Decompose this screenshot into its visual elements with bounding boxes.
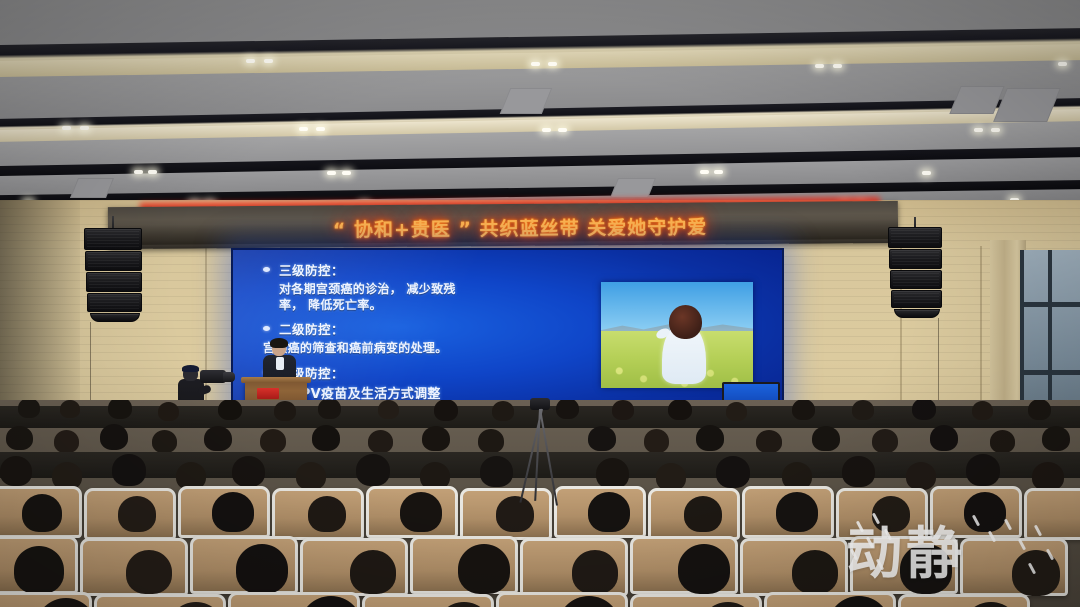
audience-head (792, 400, 815, 420)
auditorium-seat (1024, 488, 1080, 540)
ceiling-spotlight (815, 64, 824, 68)
audience-head (434, 400, 458, 421)
slide-bullet-line: 对各期宫颈癌的诊治， 减少致残 (279, 281, 593, 297)
ceiling-spotlight (342, 171, 351, 175)
speaker-module (87, 293, 142, 312)
ceiling-spotlight (327, 171, 336, 175)
audience-head (14, 546, 64, 594)
audience-head (478, 429, 504, 453)
ceiling-spotlight (80, 126, 89, 130)
line-array-speaker-left (84, 228, 144, 324)
ceiling-spotlight (548, 62, 557, 66)
audience-head (792, 550, 838, 594)
audience-head (356, 454, 390, 486)
audience-head (22, 494, 62, 532)
slide-bullet: 二级防控： (263, 319, 593, 338)
audience-head (218, 400, 242, 420)
slide-surface: 三级防控： 对各期宫颈癌的诊治， 减少致残 率， 降低死亡率。 二级防控： 宫颈… (233, 250, 782, 421)
ceiling-spotlight (148, 170, 157, 174)
audience-head (852, 400, 874, 420)
ceiling-spotlight (134, 170, 143, 174)
audience-head (458, 544, 510, 594)
video-camera-lens (223, 372, 235, 382)
audience-head (480, 456, 513, 487)
speaker-module (84, 228, 142, 250)
audience-head (368, 430, 393, 453)
slide-bullet: 三级防控： (263, 260, 593, 279)
audience-head (1042, 426, 1070, 451)
audience-head (644, 429, 669, 453)
slide-bullet-heading: 三级防控： (279, 260, 344, 279)
speaker-module (86, 272, 142, 292)
audience-head (108, 400, 132, 419)
ceiling (0, 0, 1080, 222)
operator-cap (182, 365, 199, 372)
screenshot-scene: “ 协和+贵医 ” 共织蓝丝带 关爱她守护爱 三级防控： 对各期宫颈癌的诊治 (0, 0, 1080, 607)
slide-bullet: 一级防控： (263, 363, 593, 382)
slide-photo (601, 282, 753, 388)
ceiling-spotlight (542, 128, 551, 132)
speaker-module (891, 290, 942, 308)
audience-head (842, 456, 875, 487)
speaker-cable (938, 318, 939, 412)
window-mullion (1020, 370, 1080, 375)
audience-head (152, 430, 177, 453)
ceiling-spotlight (991, 128, 1000, 132)
audience-head (422, 426, 450, 451)
audience-head (906, 462, 936, 490)
speaker-module (890, 270, 942, 289)
ceiling-spotlight (558, 128, 567, 132)
ceiling-spotlight (714, 170, 723, 174)
auditorium-seat (898, 594, 1030, 607)
ceiling-spotlight (974, 128, 983, 132)
audience-head (232, 456, 265, 487)
audience-head (964, 492, 1006, 532)
speaker-module (888, 227, 942, 248)
ceiling-spotlight (299, 127, 308, 131)
ceiling-spotlight (922, 171, 931, 175)
audience-head (60, 400, 80, 418)
audience-head (308, 496, 346, 532)
audience-head (756, 430, 782, 453)
audience-head (972, 401, 993, 420)
audience-head (54, 430, 79, 453)
audience-head (350, 550, 396, 594)
led-banner-text: “ 协和+贵医 ” 共织蓝丝带 关爱她守护爱 (285, 212, 755, 243)
audience-head (492, 401, 514, 421)
audience-head (990, 430, 1015, 453)
window-mullion (1020, 302, 1080, 307)
slide-bullet-line: 率， 降低死亡率。 (279, 297, 593, 313)
wall-seam (980, 246, 982, 426)
audience-head (812, 426, 840, 451)
speaker-module (894, 309, 940, 318)
ceiling-spotlight (1058, 62, 1067, 66)
audience-head (312, 425, 340, 451)
ceiling-spotlight (833, 64, 842, 68)
audience-head (776, 492, 818, 532)
audience-head (872, 496, 910, 532)
ceiling-spotlight (246, 59, 255, 63)
audience-head (118, 496, 156, 532)
speaker-module (889, 249, 942, 269)
audience-head (612, 400, 634, 420)
ceiling-vent (610, 178, 656, 198)
audience-head (0, 456, 32, 486)
audience-head (726, 402, 747, 421)
audience-head (596, 458, 629, 489)
photo-girl-hair (669, 305, 702, 339)
speaker-module (85, 251, 142, 271)
audience-head (900, 544, 952, 594)
audience-head (1012, 550, 1060, 596)
audience-head (212, 492, 254, 532)
audience-head (696, 425, 724, 451)
audience-head (236, 544, 288, 594)
slide-bullet-heading: 二级防控： (279, 319, 344, 338)
audience-head (318, 400, 341, 419)
presenter-hair (270, 338, 288, 348)
audience-head (912, 400, 936, 420)
projection-screen: 三级防控： 对各期宫颈癌的诊治， 减少致残 率， 降低死亡率。 二级防控： 宫颈… (231, 248, 784, 423)
audience-head (1028, 400, 1051, 420)
presenter-shirt (276, 357, 284, 370)
audience-head (716, 456, 750, 488)
audience-head (378, 400, 399, 419)
lectern-top (241, 377, 311, 383)
audience-head (684, 496, 722, 532)
ceiling-spotlight (264, 59, 273, 63)
ceiling-spotlight (531, 62, 540, 66)
audience-head (588, 492, 630, 532)
speaker-module (90, 313, 140, 322)
audience-head (204, 426, 232, 451)
audience-area (0, 400, 1080, 607)
audience-head (930, 425, 958, 451)
audience-head (296, 462, 326, 490)
audience-head (260, 429, 286, 453)
audience-head (966, 454, 1000, 486)
audience-head (100, 424, 128, 450)
audience-head (556, 400, 579, 419)
audience-head (1032, 462, 1064, 491)
audience-head (872, 429, 898, 453)
audience-head (126, 550, 172, 594)
ceiling-spotlight (62, 126, 71, 130)
audience-head (496, 496, 534, 532)
ceiling-spotlight (700, 170, 709, 174)
ceiling-spotlight (316, 127, 325, 131)
audience-head (112, 454, 146, 486)
audience-head (588, 426, 616, 451)
slide-bullet-line: 宫颈癌的筛查和癌前病变的处理。 (263, 340, 593, 356)
audience-head (274, 401, 296, 421)
audience-head (18, 400, 40, 418)
audience-head (572, 550, 618, 594)
lectern-red-sign (257, 388, 279, 399)
audience-head (400, 492, 442, 532)
slide-bullet-list: 三级防控： 对各期宫颈癌的诊治， 减少致残 率， 降低死亡率。 二级防控： 宫颈… (263, 260, 593, 409)
audience-head (6, 426, 33, 450)
audience-head (678, 544, 730, 594)
audience-head (668, 400, 692, 420)
line-array-speaker-right (888, 227, 944, 321)
bullet-dot-icon (263, 326, 270, 331)
audience-head (656, 463, 686, 491)
audience-head (158, 402, 179, 421)
bullet-dot-icon (263, 267, 270, 272)
